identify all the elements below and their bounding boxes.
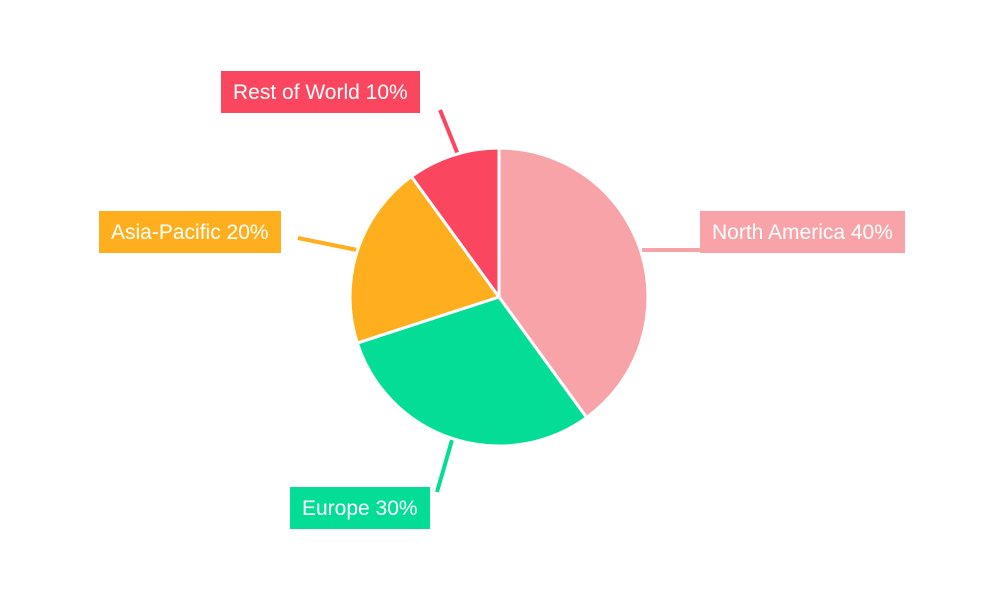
pie-label-europe[interactable]: Europe 30% — [290, 487, 430, 529]
pie-label-asia-pacific[interactable]: Asia-Pacific 20% — [99, 211, 281, 253]
pie-chart-figure: North America 40% Europe 30% Asia-Pacifi… — [0, 0, 1000, 600]
leader-line-asia-pacific — [298, 238, 362, 251]
leader-line-europe — [437, 440, 452, 492]
pie-label-rest-of-world[interactable]: Rest of World 10% — [221, 71, 420, 113]
pie-label-north-america[interactable]: North America 40% — [700, 211, 905, 253]
pie-chart-canvas — [0, 0, 1000, 600]
